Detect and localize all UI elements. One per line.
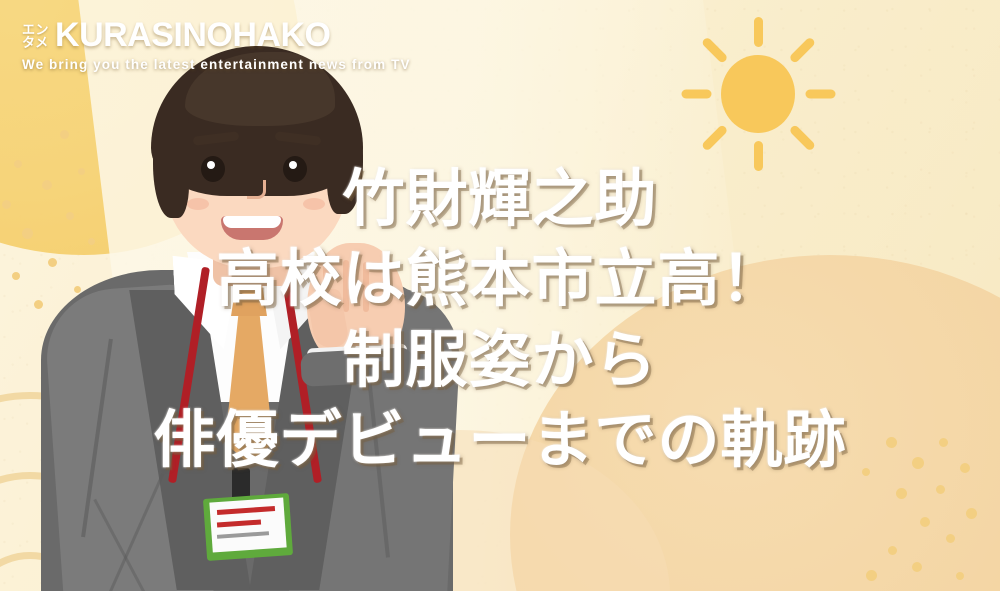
decorative-dot — [960, 463, 970, 473]
logo-wordmark: KURASINOHAKO — [55, 18, 330, 52]
eye-left — [201, 156, 225, 182]
site-logo[interactable]: エン タメ KURASINOHAKO We bring you the late… — [22, 18, 411, 72]
decorative-dot — [939, 438, 948, 447]
sun-ray — [700, 36, 728, 64]
sun-ray — [681, 90, 711, 99]
sun-ray — [700, 124, 728, 152]
eye-right — [283, 156, 307, 182]
decorative-dot — [12, 272, 20, 280]
knuckle-line — [363, 262, 369, 312]
eye-highlight-left — [207, 161, 215, 169]
decorative-dot — [886, 437, 897, 448]
decorative-dot — [866, 570, 877, 581]
decorative-dot — [912, 457, 924, 469]
suit-sleeve-cuff — [300, 347, 414, 387]
decorative-dot — [2, 200, 11, 209]
businessman-illustration — [35, 38, 465, 591]
necktie-knot — [231, 284, 267, 316]
decorative-dot — [22, 228, 33, 239]
sun-icon — [672, 8, 844, 180]
hair-sideburn-left — [153, 110, 189, 218]
logo-row: エン タメ KURASINOHAKO — [22, 18, 411, 52]
decorative-dot — [956, 572, 964, 580]
sun-ray — [788, 36, 816, 64]
decorative-dot — [946, 534, 955, 543]
decorative-dot — [14, 160, 22, 168]
sun-ray — [788, 124, 816, 152]
decorative-dot — [896, 488, 907, 499]
nose — [247, 180, 266, 199]
decorative-dot — [936, 485, 945, 494]
decorative-dot — [862, 468, 870, 476]
logo-kana-badge: エン タメ — [22, 23, 49, 53]
sun-ray — [754, 17, 763, 47]
decorative-dot — [912, 562, 922, 572]
sun-ray — [754, 141, 763, 171]
decorative-dot — [966, 508, 977, 519]
site-tagline: We bring you the latest entertainment ne… — [22, 57, 411, 72]
cheek-blush-left — [187, 198, 209, 210]
hair-sideburn-right — [327, 110, 363, 214]
teeth — [223, 216, 281, 228]
logo-kana-line-1: エン — [22, 23, 49, 36]
cheek-blush-right — [303, 198, 325, 210]
logo-kana-line-2: タメ — [22, 36, 49, 49]
eye-highlight-right — [289, 161, 297, 169]
sun-core — [721, 55, 795, 133]
knuckle-line — [343, 260, 349, 312]
decorative-dot — [888, 546, 897, 555]
decorative-dot — [920, 517, 930, 527]
youtube-thumbnail: エン タメ KURASINOHAKO We bring you the late… — [0, 0, 1000, 591]
sun-ray — [805, 90, 835, 99]
